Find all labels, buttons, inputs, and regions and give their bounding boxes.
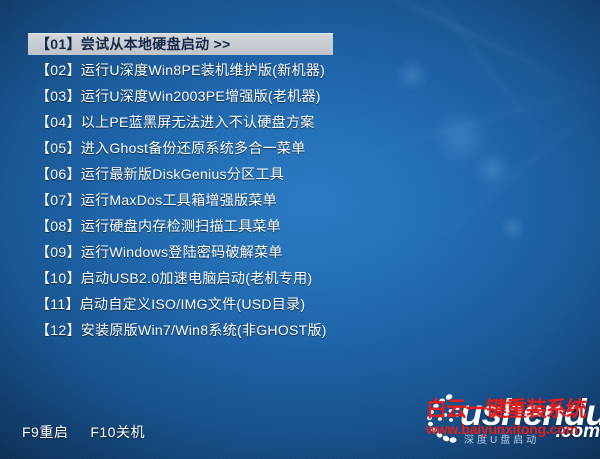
boot-menu-item[interactable]: 【11】启动自定义ISO/IMG文件(USD目录) (0, 293, 600, 315)
boot-menu-item[interactable]: 【12】安装原版Win7/Win8系统(非GHOST版) (0, 319, 600, 341)
boot-menu-item-label: 【10】启动USB2.0加速电脑启动(老机专用) (0, 267, 312, 289)
boot-menu-item-label: 【07】运行MaxDos工具箱增强版菜单 (0, 189, 277, 211)
boot-menu-item-label: 【09】运行Windows登陆密码破解菜单 (0, 241, 283, 263)
boot-menu-item-label: 【04】以上PE蓝黑屏无法进入不认硬盘方案 (0, 111, 315, 133)
boot-menu-item-label: 【02】运行U深度Win8PE装机维护版(新机器) (0, 59, 325, 81)
boot-menu-item[interactable]: 【07】运行MaxDos工具箱增强版菜单 (0, 189, 600, 211)
logo-domain-suffix: .com (556, 421, 600, 443)
boot-menu-item[interactable]: 【05】进入Ghost备份还原系统多合一菜单 (0, 137, 600, 159)
boot-menu-item[interactable]: 【02】运行U深度Win8PE装机维护版(新机器) (0, 59, 600, 81)
logo-subtitle: 深度U盘启动 (464, 431, 539, 446)
function-key-hint[interactable]: F9重启 (22, 422, 68, 442)
boot-menu-screen: 【01】尝试从本地硬盘启动 >>【02】运行U深度Win8PE装机维护版(新机器… (0, 0, 600, 459)
boot-menu-item-label: 【05】进入Ghost备份还原系统多合一菜单 (0, 137, 306, 159)
boot-menu-item[interactable]: 【03】运行U深度Win2003PE增强版(老机器) (0, 85, 600, 107)
boot-menu-item[interactable]: 【04】以上PE蓝黑屏无法进入不认硬盘方案 (0, 111, 600, 133)
function-key-hints: F9重启F10关机 (22, 422, 145, 442)
boot-menu-item-label: 【12】安装原版Win7/Win8系统(非GHOST版) (0, 319, 327, 341)
boot-menu-item-label: 【08】运行硬盘内存检测扫描工具菜单 (0, 215, 281, 237)
boot-menu-item[interactable]: 【06】运行最新版DiskGenius分区工具 (0, 163, 600, 185)
boot-menu-item-label: 【03】运行U深度Win2003PE增强版(老机器) (0, 85, 321, 107)
boot-menu-item[interactable]: 【01】尝试从本地硬盘启动 >> (0, 33, 600, 55)
boot-menu-item[interactable]: 【10】启动USB2.0加速电脑启动(老机专用) (0, 267, 600, 289)
boot-menu-list: 【01】尝试从本地硬盘启动 >>【02】运行U深度Win8PE装机维护版(新机器… (0, 33, 600, 345)
boot-menu-item-label: 【06】运行最新版DiskGenius分区工具 (0, 163, 284, 185)
function-key-hint[interactable]: F10关机 (90, 422, 145, 442)
ushendu-logo: ushendu 深度U盘启动 .com (424, 389, 600, 451)
boot-menu-item[interactable]: 【09】运行Windows登陆密码破解菜单 (0, 241, 600, 263)
boot-menu-item[interactable]: 【08】运行硬盘内存检测扫描工具菜单 (0, 215, 600, 237)
boot-menu-item-label: 【11】启动自定义ISO/IMG文件(USD目录) (0, 293, 305, 315)
boot-menu-item-label: 【01】尝试从本地硬盘启动 >> (0, 33, 231, 55)
